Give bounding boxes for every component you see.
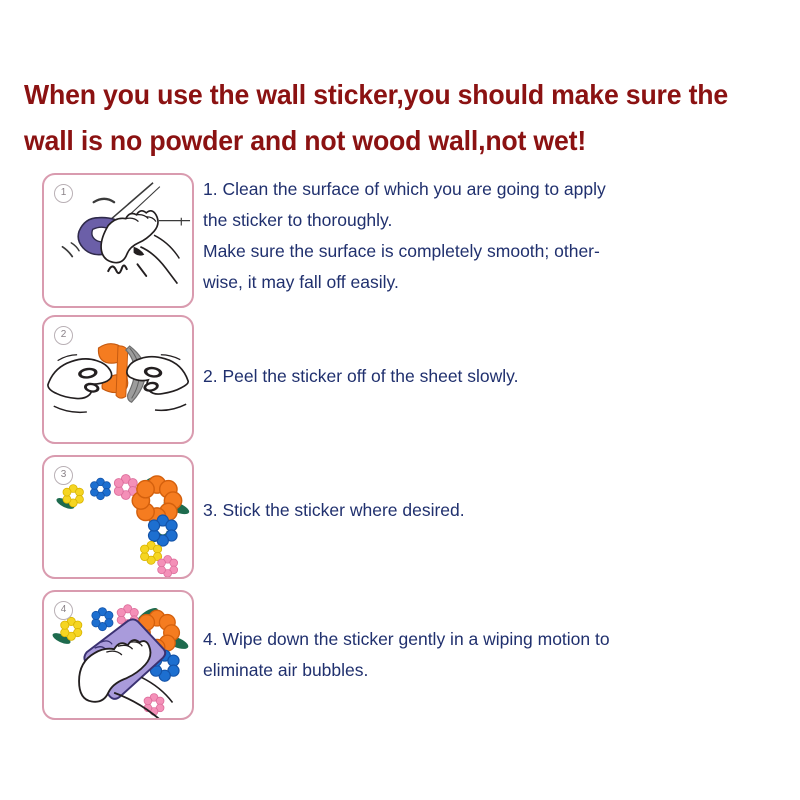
step-1-illustration-panel: 1	[42, 173, 194, 308]
step-1-text: 1. Clean the surface of which you are go…	[203, 174, 763, 298]
step-4-illustration-panel: 4	[42, 590, 194, 720]
step-2-illustration-panel: 2	[42, 315, 194, 444]
step-1-badge: 1	[54, 184, 73, 203]
step-4-badge: 4	[54, 601, 73, 620]
step-3-text: 3. Stick the sticker where desired.	[203, 495, 763, 526]
page-title: When you use the wall sticker,you should…	[24, 72, 761, 164]
step-2-text: 2. Peel the sticker off of the sheet slo…	[203, 361, 763, 392]
step-3-badge: 3	[54, 466, 73, 485]
step-3-illustration-panel: 3	[42, 455, 194, 579]
step-4-text: 4. Wipe down the sticker gently in a wip…	[203, 624, 763, 686]
step-2-badge: 2	[54, 326, 73, 345]
